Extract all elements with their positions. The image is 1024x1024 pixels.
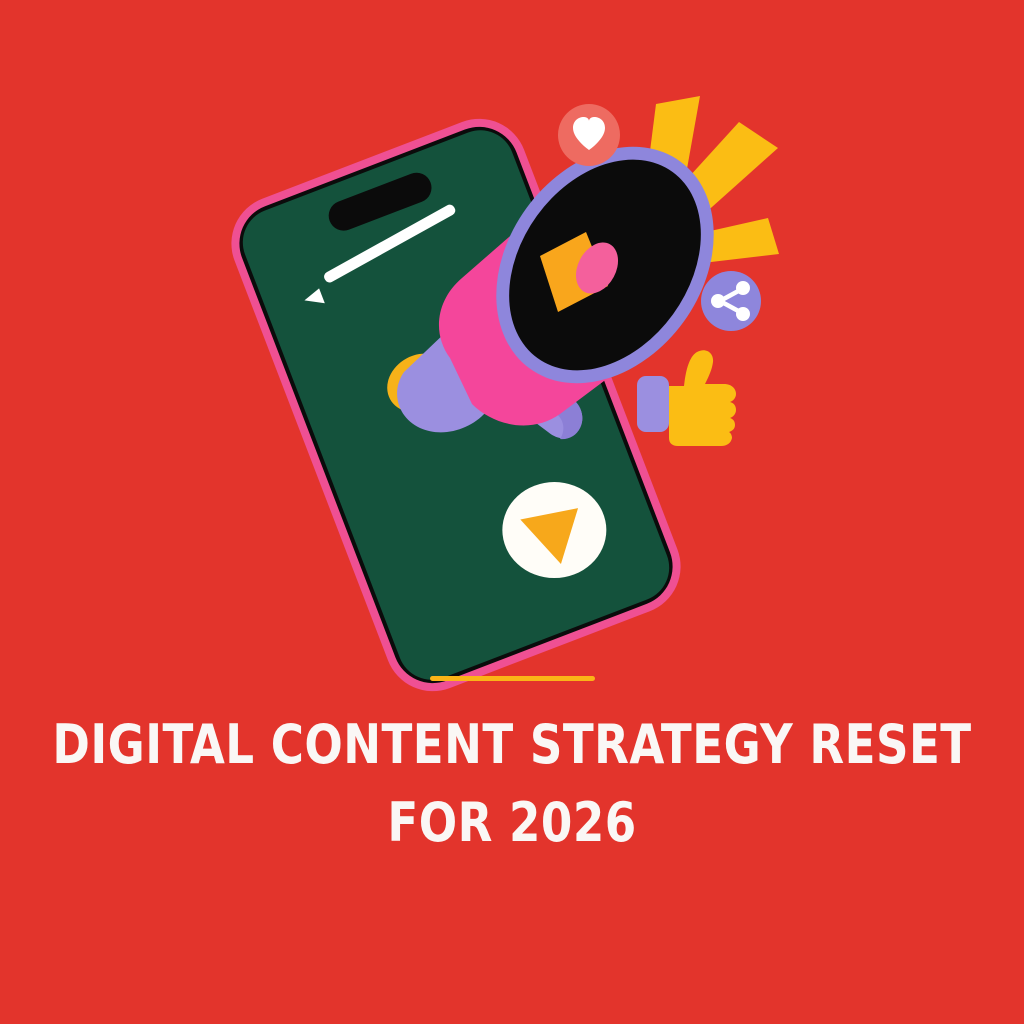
headline-line-2: For 2026 — [36, 784, 988, 862]
thumbs-up-cuff — [637, 376, 669, 432]
hero-illustration — [0, 0, 1024, 700]
divider — [430, 676, 595, 681]
thumbs-up-badge[interactable] — [637, 350, 736, 446]
page-title: Digital Content Strategy Reset For 2026 — [36, 706, 988, 862]
share-badge[interactable] — [701, 271, 761, 331]
thumbs-up-icon — [669, 350, 736, 446]
heart-reaction-badge[interactable] — [558, 104, 620, 166]
share-badge-circle — [701, 271, 761, 331]
social-media-poster: Digital Content Strategy Reset For 2026 — [0, 0, 1024, 1024]
headline-line-1: Digital Content Strategy Reset — [36, 706, 988, 784]
